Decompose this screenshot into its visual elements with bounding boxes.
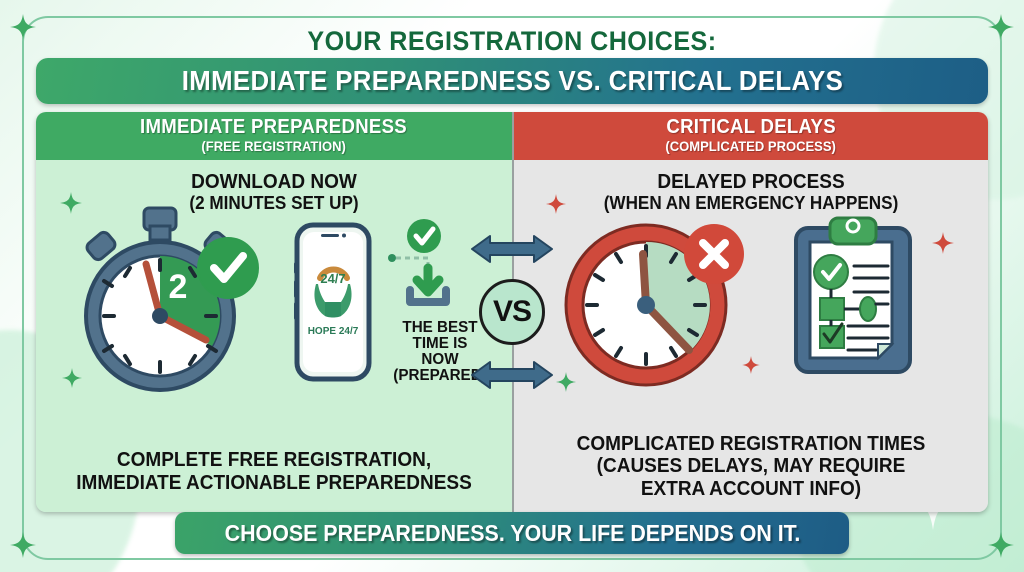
svg-text:24/7: 24/7 (320, 271, 345, 286)
right-caption: DELAYED PROCESS (WHEN AN EMERGENCY HAPPE… (514, 172, 988, 213)
versus-indicator: VS (467, 232, 557, 392)
bottom-banner-text: CHOOSE PREPAREDNESS. YOUR LIFE DEPENDS O… (224, 520, 800, 547)
right-footer-text: COMPLICATED REGISTRATION TIMES (CAUSES D… (520, 433, 982, 500)
left-footer-line2: IMMEDIATE ACTIONABLE PREPAREDNESS (54, 472, 495, 494)
column-body-left: DOWNLOAD NOW (2 MINUTES SET UP) (36, 160, 512, 512)
red-clock-icon (556, 210, 746, 395)
sparkle-icon (988, 532, 1014, 558)
vs-badge: VS (479, 279, 545, 345)
right-footer-line3: EXTRA ACCOUNT INFO) (532, 478, 971, 500)
infographic-canvas: YOUR REGISTRATION CHOICES: IMMEDIATE PRE… (0, 0, 1024, 572)
double-arrow-icon (470, 232, 554, 266)
right-footer-line1: COMPLICATED REGISTRATION TIMES (532, 433, 971, 455)
page-title: YOUR REGISTRATION CHOICES: (36, 26, 988, 57)
column-heading-right: CRITICAL DELAYS (666, 117, 836, 138)
bottom-banner: CHOOSE PREPAREDNESS. YOUR LIFE DEPENDS O… (175, 512, 849, 554)
subtitle-banner: IMMEDIATE PREPAREDNESS VS. CRITICAL DELA… (36, 58, 988, 104)
column-critical-delays: CRITICAL DELAYS (COMPLICATED PROCESS) DE… (512, 112, 988, 512)
column-subheading-left: (FREE REGISTRATION) (202, 139, 346, 154)
right-footer-line2: (CAUSES DELAYS, MAY REQUIRE (532, 455, 971, 477)
column-header-right: CRITICAL DELAYS (COMPLICATED PROCESS) (514, 112, 988, 160)
subtitle-text: IMMEDIATE PREPAREDNESS VS. CRITICAL DELA… (181, 65, 842, 97)
sparkle-icon (10, 14, 36, 40)
left-caption-line1: DOWNLOAD NOW (48, 172, 500, 194)
smartphone-icon: 24/7 HOPE 24/7 (294, 222, 372, 382)
left-footer-line1: COMPLETE FREE REGISTRATION, (54, 449, 495, 471)
sparkle-icon (988, 14, 1014, 40)
svg-text:2: 2 (169, 268, 188, 306)
column-immediate-preparedness: IMMEDIATE PREPAREDNESS (FREE REGISTRATIO… (36, 112, 512, 512)
stopwatch-icon: 2 (60, 206, 260, 396)
column-header-left: IMMEDIATE PREPAREDNESS (FREE REGISTRATIO… (36, 112, 512, 160)
clipboard-icon (792, 212, 914, 377)
sparkle-icon (10, 532, 36, 558)
svg-text:HOPE 24/7: HOPE 24/7 (308, 326, 359, 337)
double-arrow-icon (470, 358, 554, 392)
column-subheading-right: (COMPLICATED PROCESS) (666, 139, 836, 154)
right-caption-line1: DELAYED PROCESS (526, 172, 976, 194)
sparkle-icon (932, 232, 954, 254)
column-heading-left: IMMEDIATE PREPAREDNESS (141, 117, 408, 138)
column-body-right: DELAYED PROCESS (WHEN AN EMERGENCY HAPPE… (514, 160, 988, 512)
comparison-table: IMMEDIATE PREPAREDNESS (FREE REGISTRATIO… (36, 112, 988, 512)
left-footer-text: COMPLETE FREE REGISTRATION, IMMEDIATE AC… (42, 449, 506, 494)
